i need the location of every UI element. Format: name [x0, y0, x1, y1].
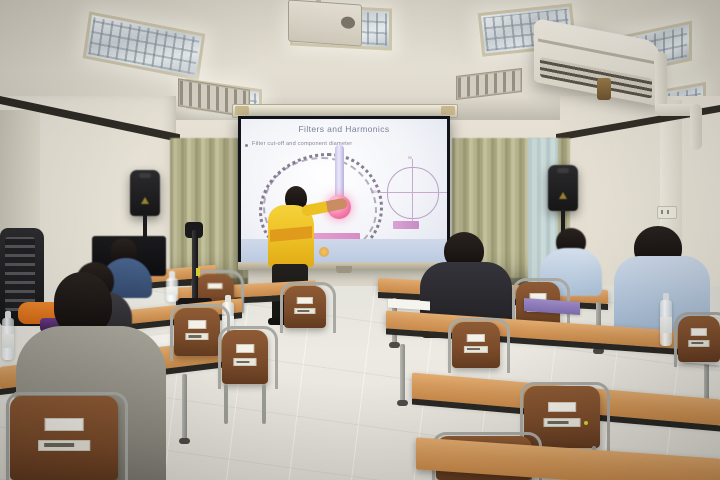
chair-asset-tag [188, 320, 206, 328]
chair-label [688, 340, 709, 347]
screen-clip [336, 266, 352, 273]
chair-label [233, 358, 256, 366]
chair-legs [222, 384, 268, 424]
student-head [54, 272, 112, 334]
chair-asset-tag [297, 297, 313, 304]
bottle-cap [663, 293, 669, 300]
water-bottle [660, 300, 672, 346]
bottle-label [660, 317, 672, 333]
wall-speaker [130, 170, 160, 216]
chair-asset-tag [467, 334, 485, 342]
chair[interactable] [10, 396, 118, 480]
polar-plot: 90 270 0 180 [387, 167, 439, 219]
water-bottle [166, 278, 178, 302]
chair[interactable] [174, 308, 220, 356]
slide-title: Filters and Harmonics [241, 124, 447, 134]
table-leg [400, 344, 405, 402]
chair[interactable] [222, 330, 268, 384]
chair-label [294, 308, 315, 315]
projector-lens [341, 16, 355, 29]
ac-pipe [690, 104, 702, 150]
polar-label-north: 90 [408, 156, 412, 160]
roller-end-cap [235, 106, 249, 115]
chair[interactable] [452, 322, 500, 368]
chair-asset-tag [208, 283, 223, 289]
projector [288, 0, 362, 47]
chair-asset-tag [45, 418, 84, 431]
chair-asset-tag [548, 402, 576, 412]
bottle-label [166, 287, 178, 295]
polar-axis-horizontal [379, 192, 447, 193]
chair-sticker [584, 421, 588, 425]
microphone-indicator [196, 268, 200, 276]
pink-bar-graphic-small [393, 221, 419, 229]
chair-label [544, 418, 581, 427]
chair-asset-tag [236, 344, 254, 353]
polar-label-west: 180 [371, 190, 377, 194]
slide-logo [319, 247, 329, 257]
chair-rail [6, 392, 128, 480]
classroom-photo: Filters and Harmonics Filter cut-off and… [0, 0, 720, 480]
table-leg [182, 374, 187, 440]
chair[interactable] [284, 286, 326, 328]
roller-end-cap [441, 106, 455, 115]
power-outlet [657, 206, 677, 219]
chair-label [38, 440, 90, 451]
chair-label [185, 333, 208, 340]
equipment-panel [5, 237, 35, 311]
chair-asset-tag [691, 328, 707, 336]
bottle-cap [5, 311, 11, 318]
microphone-stand [192, 230, 198, 304]
chair-label [464, 346, 488, 353]
polar-axis-vertical [412, 159, 413, 227]
wall-speaker [548, 165, 578, 211]
tube-graphic [335, 145, 344, 201]
chair[interactable] [678, 316, 720, 362]
water-bottle [2, 318, 14, 360]
bottle-cap [169, 271, 175, 278]
bottle-label [2, 334, 14, 348]
bottle-cap [225, 295, 231, 302]
wall-fixture [597, 78, 611, 100]
